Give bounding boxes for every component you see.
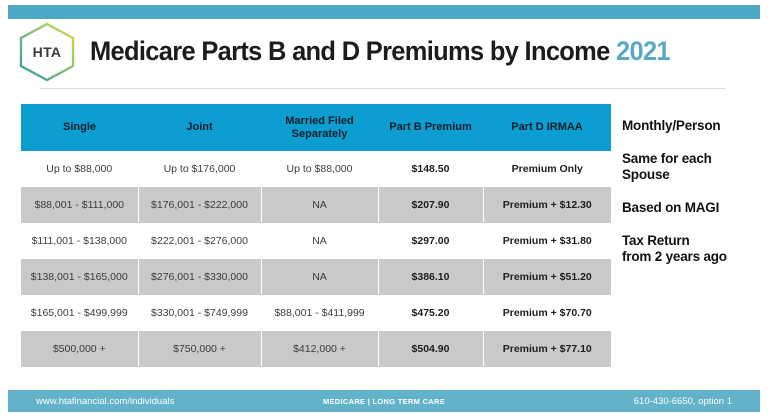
cell-part-d-irmaa: Premium + $12.30 — [483, 187, 611, 223]
top-accent-bar — [8, 5, 760, 19]
column-header-part-b-premium: Part B Premium — [378, 104, 483, 151]
table-row: $500,000 + $750,000 + $412,000 + $504.90… — [21, 331, 611, 367]
premium-table: Single Joint Married Filed Separately Pa… — [21, 104, 611, 367]
page-footer: www.htafinancial.com/individuals MEDICAR… — [8, 390, 760, 412]
table-header-row: Single Joint Married Filed Separately Pa… — [21, 104, 611, 151]
cell-married-separately: $88,001 - $411,999 — [261, 295, 378, 331]
cell-part-b-premium: $207.90 — [378, 187, 483, 223]
page-title-main: Medicare Parts B and D Premiums by Incom… — [90, 36, 610, 66]
column-header-single: Single — [21, 104, 138, 151]
cell-part-d-irmaa: Premium Only — [483, 151, 611, 187]
cell-joint: $222,001 - $276,000 — [138, 223, 261, 259]
note-tax-return: Tax Returnfrom 2 years ago — [622, 233, 768, 265]
cell-joint: $330,001 - $749,999 — [138, 295, 261, 331]
table-row: $138,001 - $165,000 $276,001 - $330,000 … — [21, 259, 611, 295]
cell-married-separately: $412,000 + — [261, 331, 378, 367]
premium-table-container: Single Joint Married Filed Separately Pa… — [21, 104, 611, 367]
note-based-on-magi: Based on MAGI — [622, 200, 768, 216]
cell-single: $111,001 - $138,000 — [21, 223, 138, 259]
page-title-year: 2021 — [616, 36, 670, 66]
cell-part-b-premium: $475.20 — [378, 295, 483, 331]
side-notes: Monthly/Person Same for eachSpouse Based… — [622, 118, 768, 265]
note-same-for-each-spouse: Same for eachSpouse — [622, 151, 768, 183]
header-divider — [40, 88, 725, 89]
cell-single: $165,001 - $499,999 — [21, 295, 138, 331]
cell-joint: Up to $176,000 — [138, 151, 261, 187]
cell-married-separately: NA — [261, 223, 378, 259]
hta-logo: HTA — [18, 22, 76, 82]
page-header: HTA Medicare Parts B and D Premiums by I… — [0, 19, 768, 84]
column-header-married-filed-separately: Married Filed Separately — [261, 104, 378, 151]
column-header-part-d-irmaa: Part D IRMAA — [483, 104, 611, 151]
footer-phone[interactable]: 610-430-6650, option 1 — [634, 396, 732, 407]
table-row: $165,001 - $499,999 $330,001 - $749,999 … — [21, 295, 611, 331]
cell-married-separately: NA — [261, 187, 378, 223]
note-monthly-per-person: Monthly/Person — [622, 118, 768, 134]
table-row: $111,001 - $138,000 $222,001 - $276,000 … — [21, 223, 611, 259]
cell-joint: $176,001 - $222,000 — [138, 187, 261, 223]
cell-single: $138,001 - $165,000 — [21, 259, 138, 295]
column-header-joint: Joint — [138, 104, 261, 151]
cell-single: Up to $88,000 — [21, 151, 138, 187]
table-header: Single Joint Married Filed Separately Pa… — [21, 104, 611, 151]
table-row: Up to $88,000 Up to $176,000 Up to $88,0… — [21, 151, 611, 187]
cell-married-separately: Up to $88,000 — [261, 151, 378, 187]
cell-single: $500,000 + — [21, 331, 138, 367]
cell-married-separately: NA — [261, 259, 378, 295]
cell-part-b-premium: $148.50 — [378, 151, 483, 187]
table-body: Up to $88,000 Up to $176,000 Up to $88,0… — [21, 151, 611, 367]
cell-part-b-premium: $297.00 — [378, 223, 483, 259]
cell-part-d-irmaa: Premium + $70.70 — [483, 295, 611, 331]
logo-label: HTA — [33, 44, 62, 60]
cell-part-d-irmaa: Premium + $31.80 — [483, 223, 611, 259]
table-row: $88,001 - $111,000 $176,001 - $222,000 N… — [21, 187, 611, 223]
page-title: Medicare Parts B and D Premiums by Incom… — [90, 36, 670, 67]
cell-part-d-irmaa: Premium + $51.20 — [483, 259, 611, 295]
cell-part-b-premium: $386.10 — [378, 259, 483, 295]
cell-part-d-irmaa: Premium + $77.10 — [483, 331, 611, 367]
infographic-page: HTA Medicare Parts B and D Premiums by I… — [0, 0, 768, 413]
cell-joint: $276,001 - $330,000 — [138, 259, 261, 295]
cell-joint: $750,000 + — [138, 331, 261, 367]
cell-part-b-premium: $504.90 — [378, 331, 483, 367]
cell-single: $88,001 - $111,000 — [21, 187, 138, 223]
